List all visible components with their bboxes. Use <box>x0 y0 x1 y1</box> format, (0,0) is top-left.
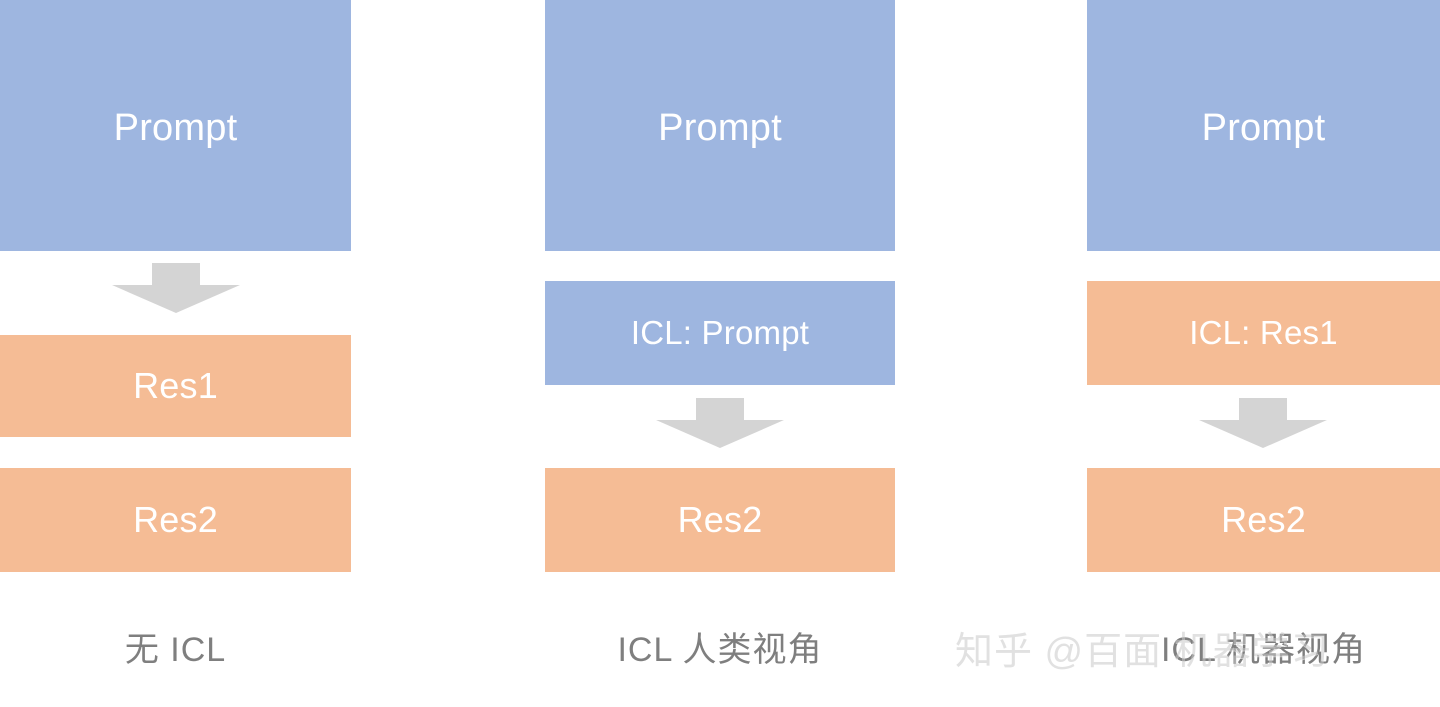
box-label: ICL: Res1 <box>1189 314 1338 352</box>
down-arrow-col1 <box>112 263 240 313</box>
arrow-down-icon <box>656 398 784 448</box>
caption-col1: 无 ICL <box>0 622 351 671</box>
box-res2-col2: Res2 <box>545 468 895 572</box>
box-label: Res2 <box>1221 499 1306 541</box>
arrow-down-icon <box>112 263 240 313</box>
box-label: Prompt <box>1202 107 1326 150</box>
box-icl-res1-col3: ICL: Res1 <box>1087 281 1440 385</box>
box-label: Prompt <box>114 107 238 150</box>
box-prompt-col2: Prompt <box>545 0 895 251</box>
column-no-icl: Prompt Res1 Res2 无 ICL <box>0 0 351 707</box>
box-label: Prompt <box>658 107 782 150</box>
box-icl-prompt-col2: ICL: Prompt <box>545 281 895 385</box>
caption-col3: ICL 机器视角 <box>1087 622 1440 671</box>
down-arrow-col3 <box>1199 398 1327 448</box>
down-arrow-col2 <box>656 398 784 448</box>
box-label: ICL: Prompt <box>631 314 809 352</box>
box-res1-col1: Res1 <box>0 335 351 437</box>
caption-col2: ICL 人类视角 <box>545 622 895 671</box>
arrow-down-icon <box>1199 398 1327 448</box>
box-prompt-col1: Prompt <box>0 0 351 251</box>
box-res2-col3: Res2 <box>1087 468 1440 572</box>
box-label: Res2 <box>678 499 763 541</box>
box-prompt-col3: Prompt <box>1087 0 1440 251</box>
box-label: Res2 <box>133 499 218 541</box>
box-label: Res1 <box>133 365 218 407</box>
icl-comparison-diagram: Prompt Res1 Res2 无 ICL Prompt ICL: Promp… <box>0 0 1440 707</box>
box-res2-col1: Res2 <box>0 468 351 572</box>
column-icl-human-view: Prompt ICL: Prompt Res2 ICL 人类视角 <box>545 0 895 707</box>
column-icl-machine-view: Prompt ICL: Res1 Res2 ICL 机器视角 <box>1087 0 1440 707</box>
